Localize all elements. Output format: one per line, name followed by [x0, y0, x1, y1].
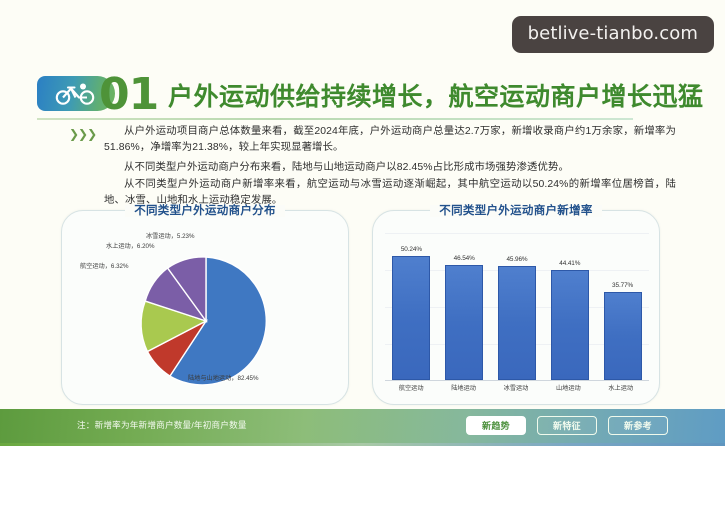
- bar-x-axis-labels: 航空运动陆地运动冰雪运动山地运动水上运动: [385, 383, 647, 392]
- bar-value-label: 44.41%: [559, 260, 580, 267]
- pie-label-water: 水上运动，6.20%: [106, 243, 154, 251]
- bar-chart-card: 不同类型户外运动商户新增率 50.24%46.54%45.96%44.41%35…: [372, 210, 660, 405]
- bar-x-label: 山地运动: [549, 383, 587, 392]
- below-slide-area: [0, 446, 725, 513]
- bar-value-label: 50.24%: [401, 246, 422, 253]
- bar-x-label: 陆地运动: [445, 383, 483, 392]
- watermark-text: betlive-tianbo.com: [528, 23, 698, 44]
- bar-value-label: 46.54%: [454, 255, 475, 262]
- bar-column: 50.24%: [392, 233, 430, 380]
- bar-rect: [604, 292, 642, 380]
- bar-chart-plot: 50.24%46.54%45.96%44.41%35.77%: [385, 233, 649, 381]
- bar-column: 35.77%: [604, 233, 642, 380]
- bar-rect: [551, 270, 589, 380]
- bar-value-label: 45.96%: [506, 256, 527, 263]
- footer-button-group: 新趋势新特征新参考: [466, 416, 668, 435]
- pie-label-aviation: 航空运动，6.32%: [80, 263, 128, 271]
- pie-label-land-mountain: 陆地与山地运动，82.45%: [188, 375, 259, 383]
- footer-bar: 注：新增率为年新增商户数量/年初商户数量 新趋势新特征新参考: [0, 409, 725, 443]
- bar-column: 44.41%: [551, 233, 589, 380]
- pie-chart-plot: 冰雪运动，5.23% 水上运动，6.20% 航空运动，6.32% 陆地与山地运动…: [62, 211, 350, 406]
- footer-button[interactable]: 新参考: [608, 416, 668, 435]
- bar-column: 46.54%: [445, 233, 483, 380]
- bar-x-label: 冰雪运动: [497, 383, 535, 392]
- page-title: 户外运动供给持续增长，航空运动商户增长迅猛: [168, 77, 704, 113]
- bar-chart-title: 不同类型户外运动商户新增率: [373, 202, 659, 218]
- bicycle-icon: [54, 83, 98, 105]
- bar-rect: [445, 265, 483, 380]
- paragraph-overview: 从户外运动项目商户总体数量来看，截至2024年底，户外运动商户总量达2.7万家，…: [104, 124, 676, 157]
- paragraph-distribution: 从不同类型户外运动商户分布来看，陆地与山地运动商户以82.45%占比形成市场强势…: [104, 160, 676, 176]
- slide-canvas: betlive-tianbo.com 01 户外运动供给持续增长，航空运动商户增…: [0, 0, 725, 513]
- footer-button[interactable]: 新特征: [537, 416, 597, 435]
- bar-x-label: 航空运动: [392, 383, 430, 392]
- bar-column: 45.96%: [498, 233, 536, 380]
- pie-label-ice-snow: 冰雪运动，5.23%: [146, 233, 194, 241]
- x-axis-line: [385, 380, 649, 381]
- bar-rect: [392, 256, 430, 380]
- bar-rect: [498, 266, 536, 380]
- watermark-badge: betlive-tianbo.com: [512, 16, 714, 53]
- chevron-triple-icon: ❯❯❯: [69, 127, 96, 141]
- bar-x-label: 水上运动: [602, 383, 640, 392]
- bar-value-label: 35.77%: [612, 282, 633, 289]
- header-divider: [37, 118, 633, 120]
- footer-note: 注：新增率为年新增商户数量/年初商户数量: [77, 419, 247, 431]
- section-header: 01 户外运动供给持续增长，航空运动商户增长迅猛: [37, 74, 633, 120]
- bar-series: 50.24%46.54%45.96%44.41%35.77%: [385, 233, 649, 380]
- pie-chart-card: 不同类型户外运动商户分布 冰雪运动，5.23% 水上运动，6.20% 航空运动，…: [61, 210, 349, 405]
- footer-button[interactable]: 新趋势: [466, 416, 526, 435]
- section-number: 01: [99, 69, 158, 120]
